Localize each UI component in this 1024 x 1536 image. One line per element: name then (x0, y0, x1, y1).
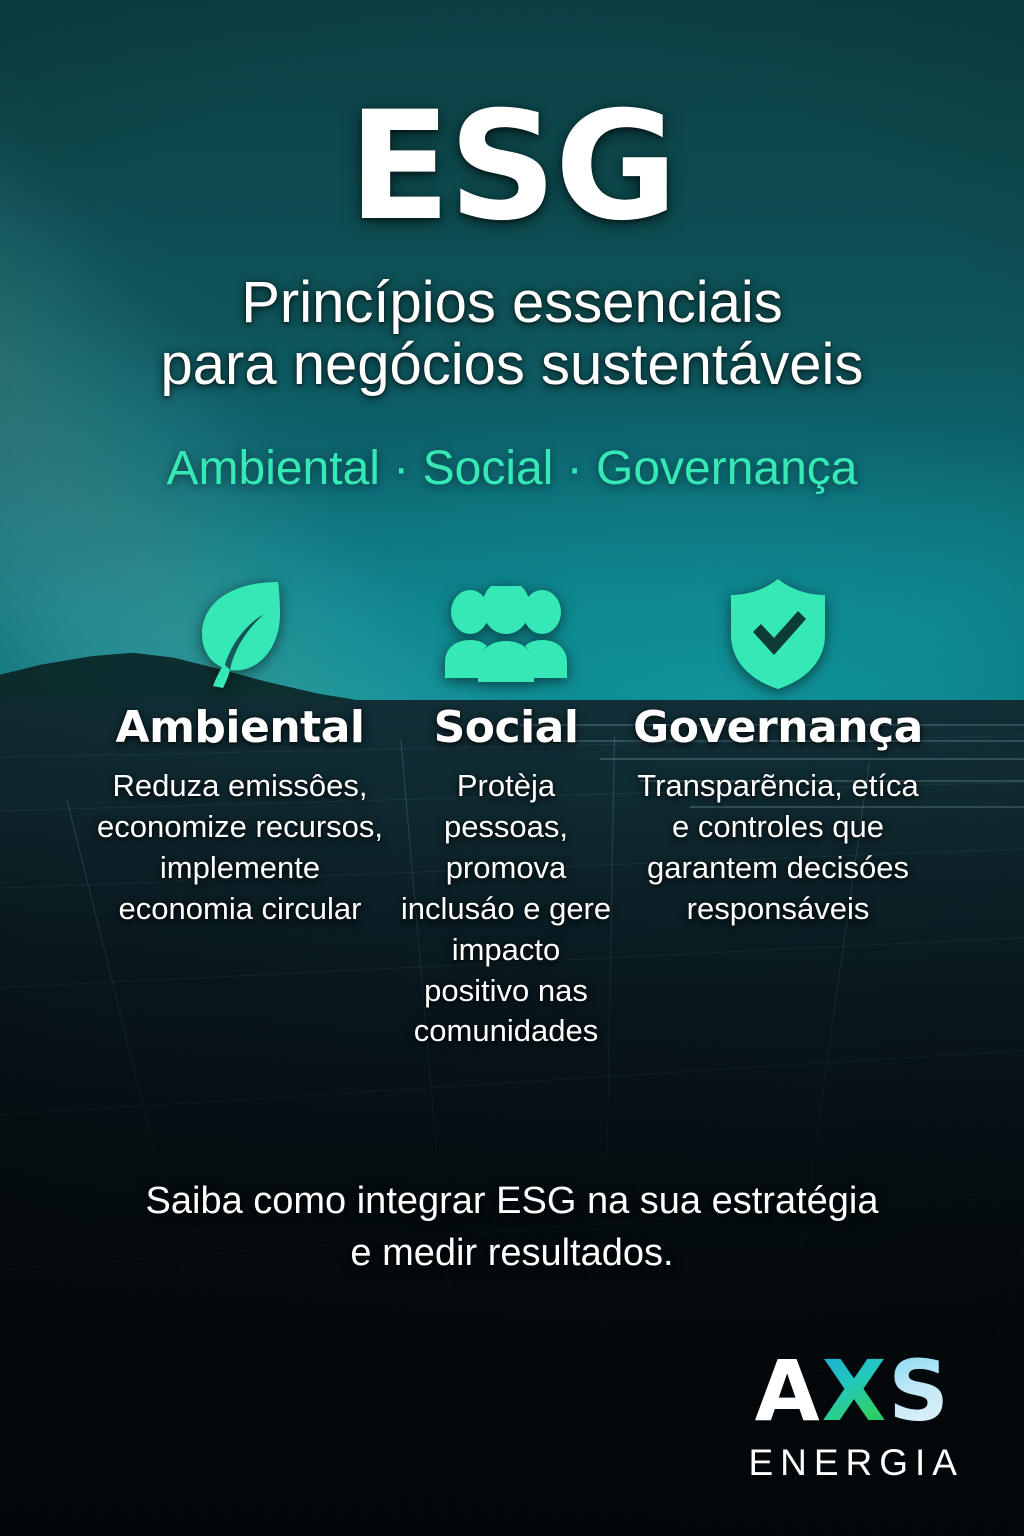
logo-wordmark: AXS (741, 1349, 964, 1433)
pillar-body: Reduza emissôes, economize recursos, imp… (90, 766, 390, 930)
subtitle-line-2: para negócios sustentáveis (0, 334, 1024, 396)
cta-line-2: e medir resultados. (0, 1227, 1024, 1279)
logo-letter-s: S (888, 1349, 951, 1433)
logo-letter-a: A (755, 1349, 822, 1433)
pillar-body: Protèja pessoas, promova inclusáo e gere… (398, 766, 614, 1052)
tagline: Ambiental · Social · Governança (0, 443, 1024, 496)
subtitle: Princípios essenciais para negócios sust… (0, 272, 1024, 396)
poster-content: ESG Princípios essenciais para negócios … (0, 0, 1024, 1536)
logo-subtitle: ENERGIA (741, 1442, 964, 1484)
call-to-action-text: Saiba como integrar ESG na sua estratégi… (0, 1175, 1024, 1280)
pillar-social: Social Protèja pessoas, promova inclusáo… (390, 575, 622, 1052)
pillar-heading: Ambiental (116, 702, 365, 753)
leaf-icon (190, 575, 290, 693)
pillar-heading: Social (434, 702, 579, 753)
cta-line-1: Saiba como integrar ESG na sua estratégi… (146, 1180, 879, 1222)
brand-logo: AXS ENERGIA (741, 1349, 964, 1484)
people-group-icon (443, 575, 569, 693)
pillar-heading: Governança (633, 702, 923, 753)
page-title: ESG (0, 92, 1024, 242)
pillar-governanca: Governança Transparẽncia, etíca e contro… (622, 575, 934, 930)
pillar-body: Transparẽncia, etíca e controles que gar… (628, 766, 928, 930)
logo-letter-x: X (822, 1349, 889, 1433)
pillars-row: Ambiental Reduza emissôes, economize rec… (90, 575, 934, 1052)
subtitle-line-1: Princípios essenciais (241, 270, 783, 335)
pillar-ambiental: Ambiental Reduza emissôes, economize rec… (90, 575, 390, 930)
esg-infographic-poster: ESG Princípios essenciais para negócios … (0, 0, 1024, 1536)
shield-check-icon (725, 575, 831, 693)
